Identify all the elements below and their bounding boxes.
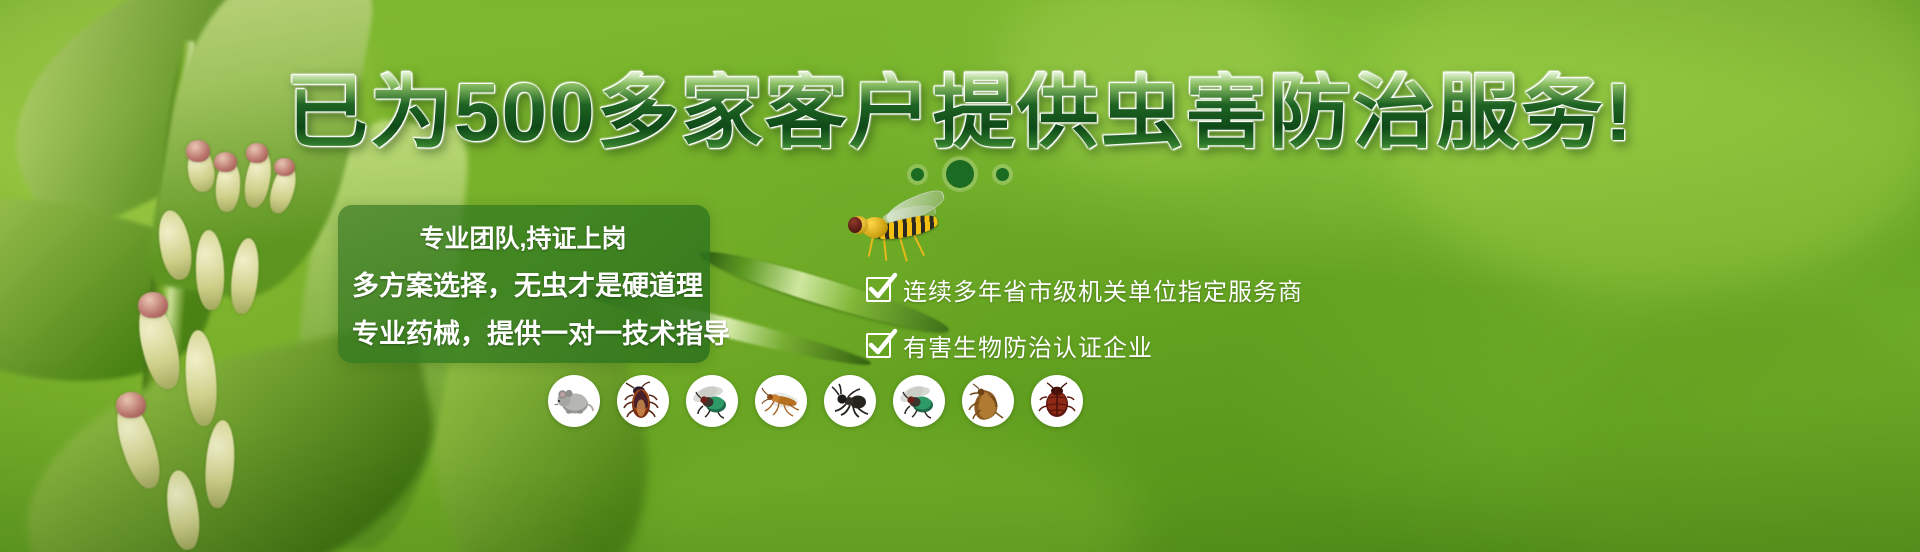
hoverfly-body-group <box>840 195 960 265</box>
cockroach-icon[interactable] <box>617 375 669 427</box>
checkbox-checked-icon <box>866 277 891 302</box>
checkbox-checked-icon <box>866 333 891 358</box>
checklist-item: 连续多年省市级机关单位指定服务商 <box>866 272 1386 307</box>
checklist-item-label: 连续多年省市级机关单位指定服务商 <box>903 272 1303 307</box>
background-bokeh-blob <box>1550 300 1920 552</box>
small-dot <box>996 168 1009 181</box>
dots-divider <box>0 160 1920 188</box>
pest-control-promo-banner: 已为500多家客户提供虫害防治服务! 专业团队,持证上岗 多方案选择，无虫才是硬… <box>0 0 1920 552</box>
hoverfly-leg <box>898 234 908 261</box>
background-bokeh-blob <box>620 420 1140 552</box>
panel-line-2: 多方案选择，无虫才是硬道理 <box>352 264 694 303</box>
checklist-item-label: 有害生物防治认证企业 <box>903 328 1153 363</box>
flower-bud-tip <box>138 292 168 318</box>
hoverfly-leg <box>913 234 925 256</box>
selling-points-panel: 专业团队,持证上岗 多方案选择，无虫才是硬道理 专业药械，提供一对一技术指导 <box>338 205 710 363</box>
credentials-checklist: 连续多年省市级机关单位指定服务商 有害生物防治认证企业 <box>866 272 1386 384</box>
panel-line-3: 专业药械，提供一对一技术指导 <box>352 312 694 351</box>
ant-icon[interactable] <box>824 375 876 427</box>
fly-icon[interactable] <box>686 375 738 427</box>
flea-icon[interactable] <box>962 375 1014 427</box>
hoverfly-eye <box>848 217 862 233</box>
blowfly-icon[interactable] <box>893 375 945 427</box>
checklist-item: 有害生物防治认证企业 <box>866 328 1386 363</box>
bedbug-icon[interactable] <box>1031 375 1083 427</box>
mouse-icon[interactable] <box>548 375 600 427</box>
pest-icons-row <box>548 375 1083 427</box>
large-dot <box>946 160 974 188</box>
panel-line-1: 专业团队,持证上岗 <box>352 219 694 255</box>
mosquito-icon[interactable] <box>755 375 807 427</box>
flower-bud-tip <box>116 392 146 418</box>
banner-headline: 已为500多家客户提供虫害防治服务! <box>0 72 1920 154</box>
small-dot <box>911 168 924 181</box>
hoverfly-leg <box>868 235 875 257</box>
